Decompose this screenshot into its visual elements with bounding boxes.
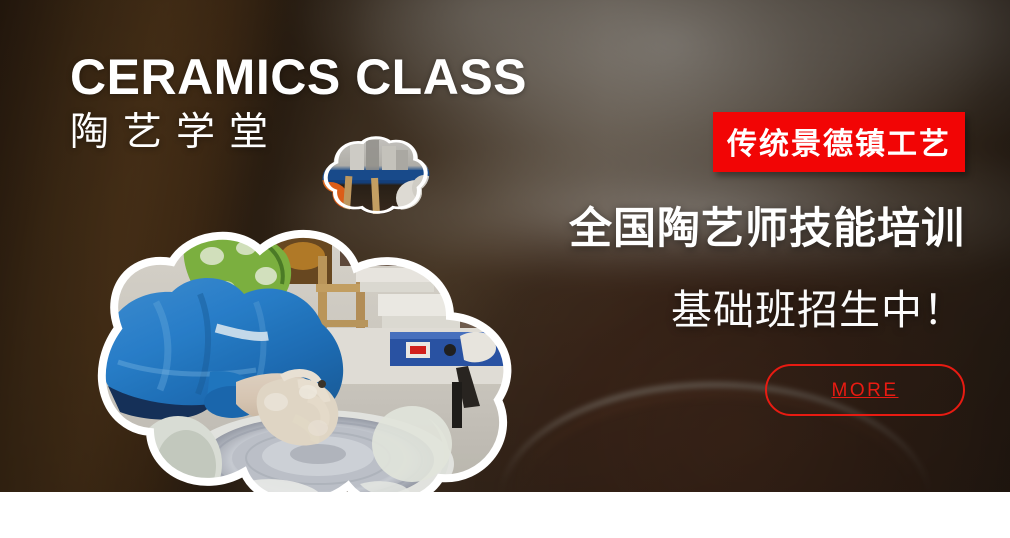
ceramics-class-banner: CERAMICS CLASS 陶艺学堂 传统景德镇工艺 全国陶艺师技能培训 基础…: [0, 0, 1010, 538]
page-title-english: CERAMICS CLASS: [70, 52, 527, 103]
cloud-small-photo-content: [312, 136, 436, 216]
status-badge: 传统景德镇工艺: [713, 112, 965, 172]
cloud-photo-large: [60, 232, 528, 504]
bottom-white-band: [0, 492, 1010, 538]
badge-row: 传统景德镇工艺: [405, 112, 965, 172]
more-button[interactable]: MORE: [765, 364, 965, 416]
cloud-photo-small: [316, 136, 432, 214]
